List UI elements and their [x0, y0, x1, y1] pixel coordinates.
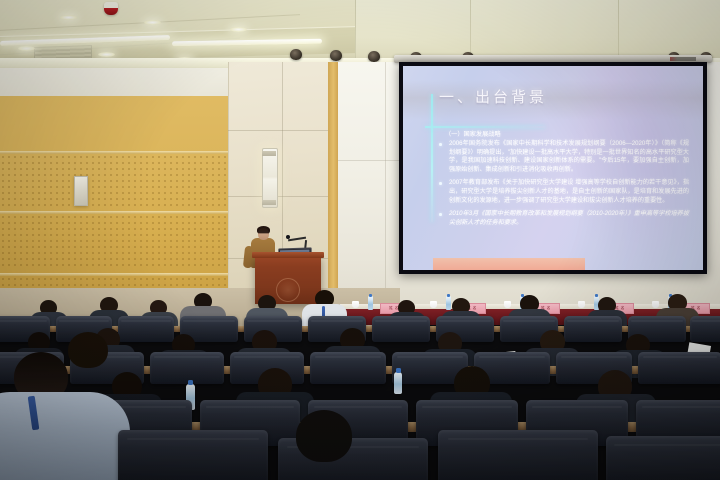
water-bottle	[446, 296, 451, 310]
podium-emblem	[276, 278, 300, 302]
foreground-seat	[118, 430, 268, 480]
stone-wall-seam	[228, 130, 332, 131]
presentation-slide: 一、出台背景 （一）国家发展战略 2006年国务院发布《国家中长期科学和技术发展…	[403, 66, 703, 270]
slide-title: 一、出台背景	[439, 86, 547, 107]
white-wall-seam	[385, 62, 386, 314]
slide-subtitle: （一）国家发展战略	[445, 129, 501, 138]
acoustic-perforation-band	[0, 154, 232, 208]
tea-cup	[430, 301, 437, 308]
ceiling-spotlight	[290, 49, 302, 60]
lecture-hall-photo: 一、出台背景 （一）国家发展战略 2006年国务院发布《国家中长期科学和技术发展…	[0, 0, 720, 480]
audience-head	[68, 332, 108, 368]
wood-wall-rail	[0, 151, 232, 154]
white-wall-seam	[338, 160, 400, 161]
microphone-head-icon	[286, 235, 290, 239]
projection-screen: 一、出台背景 （一）国家发展战略 2006年国务院发布《国家中长期科学和技术发展…	[399, 62, 707, 274]
tea-cup	[352, 301, 359, 308]
ceiling-spotlight	[330, 50, 342, 61]
downlight-fixture	[98, 52, 115, 57]
slide-bullet-list: 2006年国务院发布《国家中长期科学和技术发展规划纲要（2006—2020年）》…	[437, 140, 689, 232]
water-bottle	[394, 372, 402, 394]
fire-alarm-bell-icon	[104, 2, 118, 15]
slide-bullet-item: 2010年3月《国家中长期教育改革和发展规划纲要（2010-2020年）》重申高…	[437, 210, 689, 227]
podium-top-surface	[252, 252, 324, 258]
stone-wall-seam	[228, 196, 332, 197]
ceiling-seam	[470, 0, 471, 58]
wood-wall-rail	[0, 273, 232, 276]
audience-seat	[372, 316, 430, 342]
presenter-head	[258, 228, 269, 240]
audience-seat	[564, 316, 622, 342]
slide-bullet-item: 2007年教育部发布《关于加快研究型大学建设 增强高等学校自创新能力的若干意见》…	[437, 179, 689, 205]
audience-seat	[638, 352, 720, 384]
tea-cup	[578, 301, 585, 308]
tea-cup	[504, 301, 511, 308]
tea-cup	[652, 301, 659, 308]
roller-brand-logo	[670, 57, 696, 61]
slide-accent-vertical	[431, 94, 433, 222]
water-bottle	[368, 296, 373, 310]
audience-seat	[310, 352, 386, 384]
ceiling-spotlight	[368, 51, 380, 62]
downlight-fixture	[18, 46, 35, 51]
audience-seat	[690, 316, 720, 342]
ceiling-seam	[618, 0, 619, 58]
downlight-fixture	[230, 27, 247, 32]
foreground-person-head	[296, 410, 352, 462]
downlight-fixture	[144, 20, 161, 25]
foreground-seat	[438, 430, 598, 480]
slide-bullet-item: 2006年国务院发布《国家中长期科学和技术发展规划纲要（2006—2020年）》…	[437, 140, 689, 174]
slide-accent-horizontal	[425, 126, 545, 128]
slide-footer-band	[433, 258, 585, 270]
foreground-seat	[606, 436, 720, 480]
acoustic-perforation-band	[0, 214, 232, 270]
audience-seat	[150, 352, 224, 384]
audience-seat	[118, 316, 174, 342]
wall-sconce-light	[262, 148, 278, 208]
ceiling-panel-right	[355, 0, 720, 62]
foreground-person-shirt	[0, 392, 130, 480]
downlight-fixture	[60, 15, 77, 20]
wood-wall-rail	[0, 211, 232, 214]
wall-mounted-plate	[74, 176, 88, 206]
